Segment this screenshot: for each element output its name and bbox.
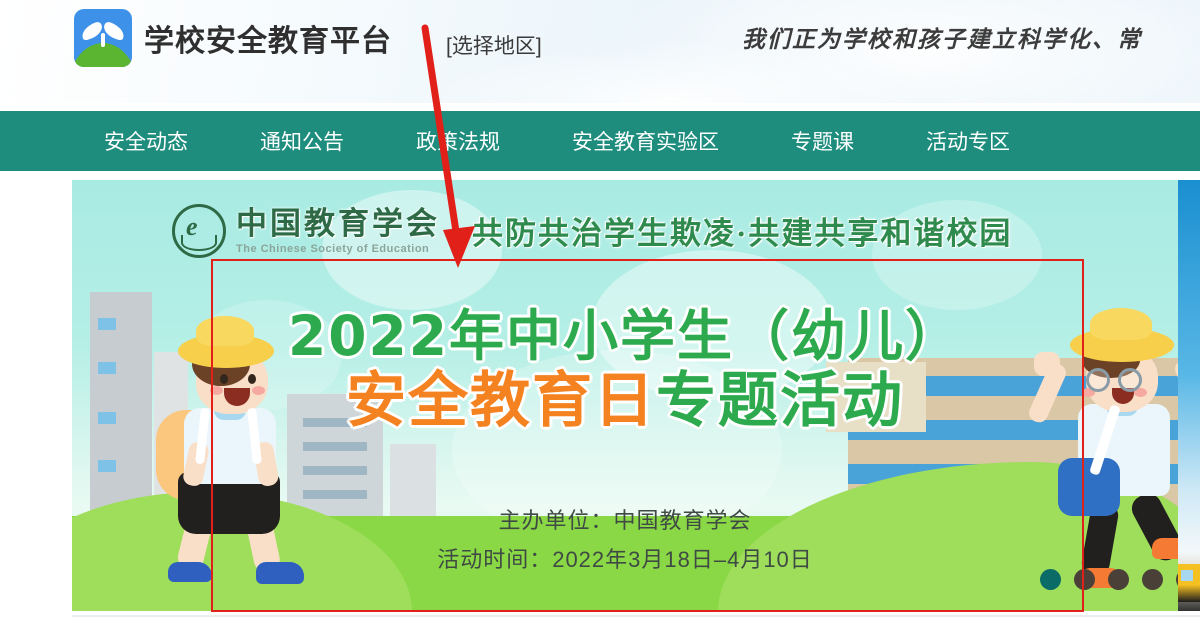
page-bottom-strip [0, 611, 1200, 627]
nav-item-activity-zone[interactable]: 活动专区 [926, 126, 1010, 156]
csoe-emblem-leaf [181, 235, 217, 251]
nav-item-notices[interactable]: 通知公告 [260, 126, 344, 156]
carousel-dot-2[interactable] [1074, 569, 1095, 590]
csoe-name-cn: 中国教育学会 [236, 208, 440, 239]
illustration-student-left [164, 312, 334, 602]
building-window [98, 460, 116, 472]
main-navigation: 安全动态 通知公告 政策法规 安全教育实验区 专题课 活动专区 [0, 111, 1200, 171]
shoe-left [168, 562, 212, 582]
carousel-dot-4[interactable] [1142, 569, 1163, 590]
banner-tagline: 共防共治学生欺凌·共建共享和谐校园 [472, 208, 1012, 253]
sun-hat-crown [1090, 308, 1152, 340]
page-bottom-divider [72, 615, 1200, 617]
brand-name: 学校安全教育平台 [144, 16, 392, 60]
carousel-dot-1[interactable] [1040, 569, 1061, 590]
nav-item-special-course[interactable]: 专题课 [791, 126, 854, 156]
carousel-dot-3[interactable] [1108, 569, 1129, 590]
logo-leaf-right [101, 21, 126, 41]
nav-item-safety-news[interactable]: 安全动态 [104, 126, 188, 156]
messenger-bag [1058, 458, 1120, 516]
nav-item-experimental-zone[interactable]: 安全教育实验区 [572, 126, 719, 156]
eye-left [220, 374, 228, 384]
csoe-emblem-icon: e [172, 204, 226, 258]
sun-hat-crown [196, 316, 254, 346]
site-slogan: 我们正为学校和孩子建立科学化、常 [742, 20, 1142, 54]
school-bus-illustration [1178, 564, 1200, 602]
brand-logo-area[interactable]: 学校安全教育平台 [74, 9, 392, 67]
eye-right [248, 374, 256, 384]
csoe-name-en: The Chinese Society of Education [236, 244, 440, 255]
csoe-text-block: 中国教育学会 The Chinese Society of Education [236, 208, 440, 255]
glasses-left-lens-icon [1086, 368, 1110, 392]
logo-stem [101, 33, 105, 47]
shoe-right [1152, 538, 1178, 559]
site-header: 学校安全教育平台 [选择地区] 我们正为学校和孩子建立科学化、常 [0, 0, 1200, 103]
nav-item-policy-regulations[interactable]: 政策法规 [416, 126, 500, 156]
shoe-right [256, 562, 304, 584]
carousel-dot-5[interactable] [1176, 569, 1178, 590]
sprout-logo-icon [74, 9, 132, 67]
bus-window [1181, 570, 1193, 581]
banner-title-line2-green: 专题活动 [656, 366, 904, 436]
nav-items-container: 安全动态 通知公告 政策法规 安全教育实验区 专题课 活动专区 [0, 126, 1010, 156]
illustration-student-right [1034, 306, 1178, 606]
carousel-slide-next-preview[interactable] [1178, 180, 1200, 612]
carousel-slide-active[interactable]: e 中国教育学会 The Chinese Society of Educatio… [72, 180, 1178, 612]
csoe-logo-block: e 中国教育学会 The Chinese Society of Educatio… [172, 204, 440, 258]
carousel-dots[interactable] [1040, 569, 1178, 590]
cheek-left [210, 386, 223, 395]
banner-title-line2-orange: 安全教育日 [346, 366, 656, 436]
hero-carousel[interactable]: e 中国教育学会 The Chinese Society of Educatio… [72, 180, 1200, 612]
glasses-right-lens-icon [1118, 368, 1142, 392]
page-root: 学校安全教育平台 [选择地区] 我们正为学校和孩子建立科学化、常 安全动态 通知… [0, 0, 1200, 627]
fist-left [1034, 352, 1060, 376]
region-selector-annotation-label: [选择地区] [446, 30, 542, 60]
cheek-right [252, 386, 265, 395]
